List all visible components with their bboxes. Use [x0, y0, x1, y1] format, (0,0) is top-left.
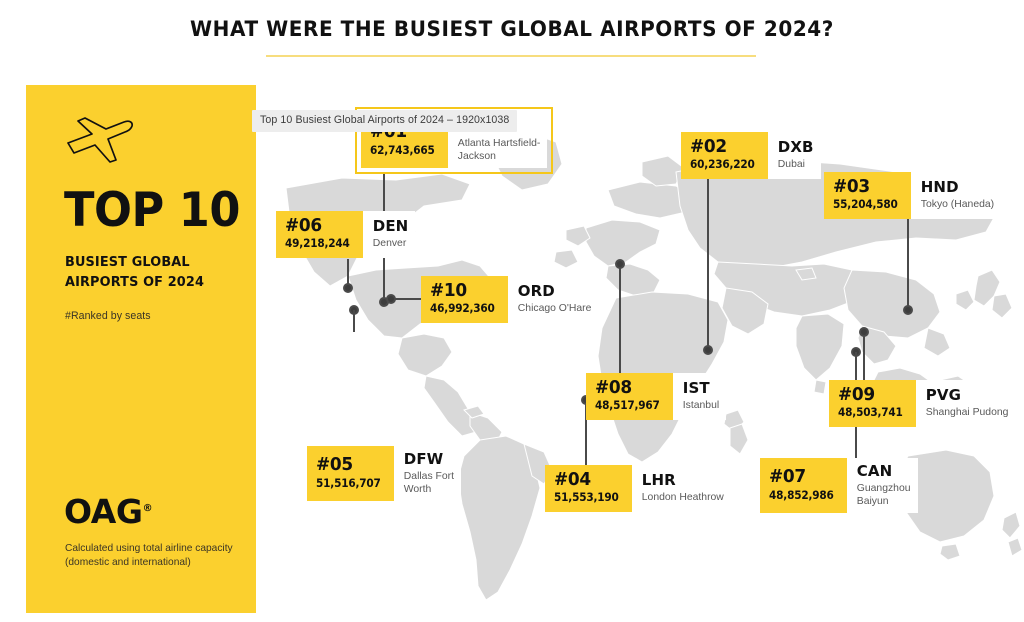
rank-badge-dfw: #05 51,516,707: [307, 446, 394, 501]
airport-info-dxb: DXB Dubai: [768, 132, 821, 179]
rank-label: #03: [833, 178, 898, 196]
airport-marker-dxb[interactable]: #02 60,236,220 DXB Dubai: [681, 132, 821, 179]
airport-city: Guangzhou Baiyun: [857, 482, 911, 508]
airport-city: Tokyo (Haneda): [921, 198, 994, 211]
seats-value: 62,743,665: [370, 145, 435, 157]
seats-value: 48,852,986: [769, 490, 834, 502]
airport-marker-den[interactable]: #06 49,218,244 DEN Denver: [276, 211, 415, 258]
airport-code: DEN: [373, 218, 409, 234]
rank-badge-lhr: #04 51,553,190: [545, 465, 632, 512]
airport-marker-lhr[interactable]: #04 51,553,190 LHR London Heathrow: [545, 465, 731, 512]
airport-code: IST: [683, 380, 719, 396]
rank-badge-dxb: #02 60,236,220: [681, 132, 768, 179]
airport-marker-ord[interactable]: #10 46,992,360 ORD Chicago O'Hare: [421, 276, 598, 323]
rank-label: #05: [316, 456, 381, 474]
seats-value: 46,992,360: [430, 303, 495, 315]
airport-city: Atlanta Hartsfield- Jackson: [458, 137, 541, 163]
airport-city: Chicago O'Hare: [518, 302, 592, 315]
oag-logo-text: OAG: [64, 492, 143, 531]
rank-badge-hnd: #03 55,204,580: [824, 172, 911, 219]
airport-info-den: DEN Denver: [363, 211, 416, 258]
airport-city: Istanbul: [683, 399, 719, 412]
seats-value: 60,236,220: [690, 159, 755, 171]
rank-label: #02: [690, 138, 755, 156]
airport-code: DXB: [778, 139, 814, 155]
rank-label: #07: [769, 468, 834, 486]
header: WHAT WERE THE BUSIEST GLOBAL AIRPORTS OF…: [0, 0, 1024, 70]
world-map-area: #01 62,743,665 ATL Atlanta Hartsfield- J…: [256, 80, 1024, 622]
seats-value: 48,517,967: [595, 400, 660, 412]
seats-value: 49,218,244: [285, 238, 350, 250]
rank-label: #06: [285, 217, 350, 235]
seats-value: 51,553,190: [554, 492, 619, 504]
oag-logo: OAG®: [64, 495, 152, 528]
airport-marker-hnd[interactable]: #03 55,204,580 HND Tokyo (Haneda): [824, 172, 1001, 219]
rank-label: #09: [838, 386, 903, 404]
airport-info-can: CAN Guangzhou Baiyun: [847, 458, 918, 513]
airport-city: Shanghai Pudong: [926, 406, 1009, 419]
airport-code: LHR: [642, 472, 724, 488]
rank-badge-ord: #10 46,992,360: [421, 276, 508, 323]
airport-city: Denver: [373, 237, 409, 250]
airport-info-lhr: LHR London Heathrow: [632, 465, 731, 512]
rank-label: #08: [595, 379, 660, 397]
seats-value: 51,516,707: [316, 478, 381, 490]
page-title: WHAT WERE THE BUSIEST GLOBAL AIRPORTS OF…: [36, 17, 988, 42]
airport-marker-pvg[interactable]: #09 48,503,741 PVG Shanghai Pudong: [829, 380, 1015, 427]
rank-badge-den: #06 49,218,244: [276, 211, 363, 258]
airport-code: HND: [921, 179, 994, 195]
airport-info-ord: ORD Chicago O'Hare: [508, 276, 599, 323]
airport-marker-ist[interactable]: #08 48,517,967 IST Istanbul: [586, 373, 726, 420]
airport-info-ist: IST Istanbul: [673, 373, 726, 420]
sidebar-subheading: BUSIEST GLOBAL AIRPORTS OF 2024: [65, 253, 243, 294]
title-underline-divider: [266, 55, 756, 57]
airport-info-hnd: HND Tokyo (Haneda): [911, 172, 1001, 219]
registered-mark-icon: ®: [143, 503, 153, 514]
rank-label: #10: [430, 282, 495, 300]
sidebar-heading: TOP 10: [64, 187, 240, 234]
airport-city: London Heathrow: [642, 491, 724, 504]
airport-city: Dubai: [778, 158, 814, 171]
seats-value: 48,503,741: [838, 407, 903, 419]
airport-marker-dfw[interactable]: #05 51,516,707 DFW Dallas Fort Worth: [307, 446, 461, 501]
airplane-icon: [64, 115, 136, 167]
sidebar-panel: TOP 10 BUSIEST GLOBAL AIRPORTS OF 2024 #…: [26, 85, 256, 613]
sidebar-ranking-note: #Ranked by seats: [65, 310, 151, 322]
rank-label: #04: [554, 471, 619, 489]
airport-code: DFW: [404, 451, 454, 467]
methodology-caption: Calculated using total airline capacity …: [65, 542, 260, 571]
seats-value: 55,204,580: [833, 199, 898, 211]
rank-badge-ist: #08 48,517,967: [586, 373, 673, 420]
airport-code: ORD: [518, 283, 592, 299]
image-title-tooltip: Top 10 Busiest Global Airports of 2024 –…: [252, 110, 517, 132]
airport-info-dfw: DFW Dallas Fort Worth: [394, 446, 461, 501]
rank-badge-pvg: #09 48,503,741: [829, 380, 916, 427]
airport-info-pvg: PVG Shanghai Pudong: [916, 380, 1016, 427]
airport-city: Dallas Fort Worth: [404, 470, 454, 496]
airport-marker-can[interactable]: #07 48,852,986 CAN Guangzhou Baiyun: [760, 458, 918, 513]
airport-code: PVG: [926, 387, 1009, 403]
rank-badge-can: #07 48,852,986: [760, 458, 847, 513]
airport-code: CAN: [857, 463, 911, 479]
